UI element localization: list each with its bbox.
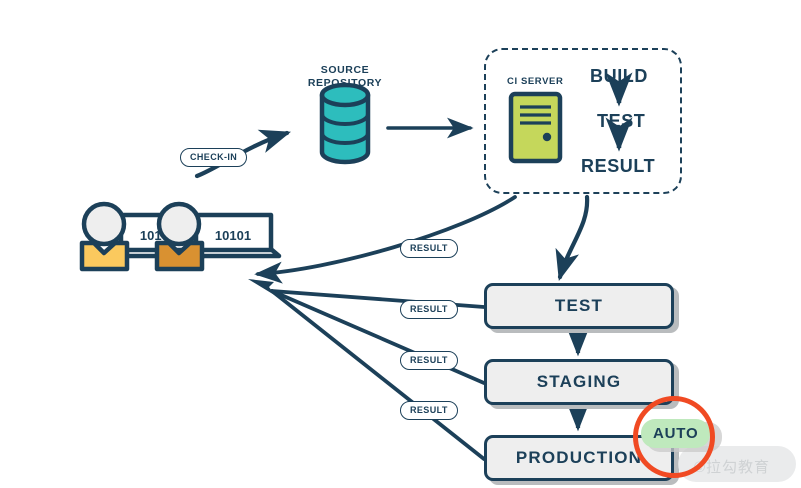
feedback-arrowhead	[248, 279, 276, 296]
stage-box-test[interactable]: TEST	[484, 283, 674, 329]
edge-label-result-production: RESULT	[400, 401, 458, 420]
ci-server-label: CI SERVER	[507, 76, 563, 87]
diagram-canvas: 10101 10101	[0, 0, 801, 488]
edge-label-result-staging: RESULT	[400, 351, 458, 370]
ci-flow-step-test: TEST	[597, 111, 645, 132]
edge-label-result-ci: RESULT	[400, 239, 458, 258]
edge-label-result-test: RESULT	[400, 300, 458, 319]
stage-label-staging: STAGING	[537, 372, 622, 392]
source-repository-label: SOURCE REPOSITORY	[299, 64, 391, 90]
stage-box-staging[interactable]: STAGING	[484, 359, 674, 405]
ci-flow-step-result: RESULT	[581, 156, 655, 177]
ci-to-test-arrow	[560, 197, 587, 277]
highlight-circle-auto	[633, 396, 715, 478]
stage-label-production: PRODUCTION	[516, 448, 642, 468]
edge-label-check-in: CHECK-IN	[180, 148, 247, 167]
svg-text:10101: 10101	[215, 228, 251, 243]
source-repository-icon	[322, 85, 368, 162]
developer-two-icon: 10101	[157, 204, 279, 269]
stage-label-test: TEST	[555, 296, 603, 316]
result-ci-to-dev-line	[258, 197, 515, 274]
ci-flow-step-build: BUILD	[590, 66, 648, 87]
